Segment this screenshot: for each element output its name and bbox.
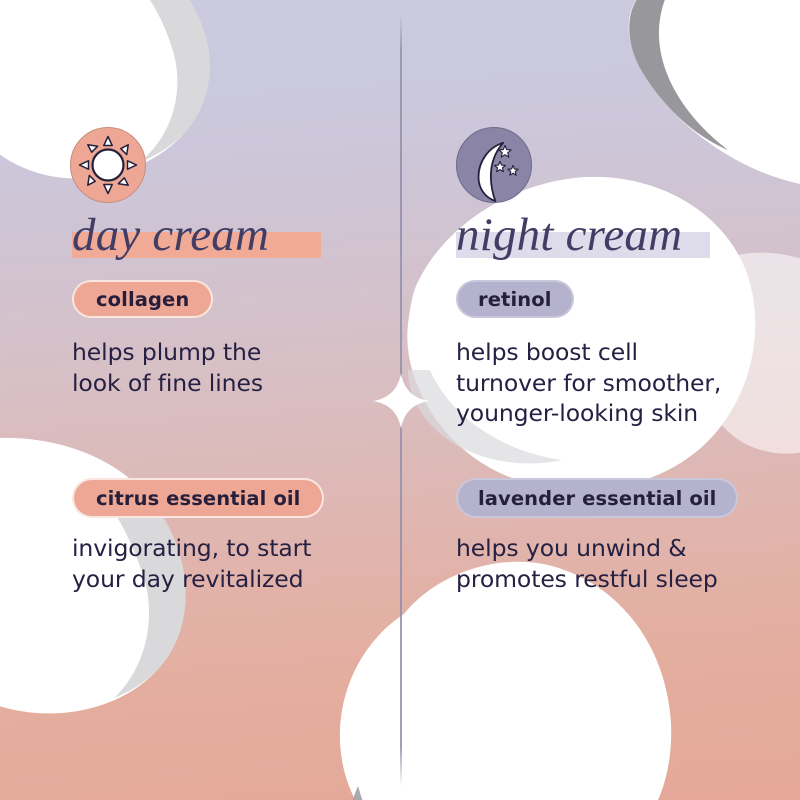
ingredient-pill-retinol[interactable]: retinol: [456, 280, 574, 318]
pill-label: collagen: [96, 288, 189, 311]
column-night-cream: night cream retinol helps boost cell tur…: [400, 0, 800, 800]
day-cream-title: day cream: [72, 211, 269, 261]
retinol-benefit-text: helps boost cell turnover for smoother, …: [456, 337, 721, 429]
skincare-comparison-poster: day cream collagen helps plump the look …: [0, 0, 800, 800]
ingredient-pill-citrus-oil[interactable]: citrus essential oil: [72, 478, 324, 518]
pill-label: retinol: [478, 288, 552, 311]
night-heading-wrapper: night cream: [456, 211, 682, 261]
sun-icon: [70, 127, 146, 203]
collagen-benefit-text: helps plump the look of fine lines: [72, 337, 263, 398]
night-cream-title: night cream: [456, 211, 682, 261]
column-day-cream: day cream collagen helps plump the look …: [0, 0, 400, 800]
moon-icon: [456, 127, 532, 203]
day-heading-wrapper: day cream: [72, 211, 269, 261]
ingredient-pill-lavender-oil[interactable]: lavender essential oil: [456, 478, 738, 518]
pill-label: citrus essential oil: [96, 487, 300, 510]
citrus-oil-benefit-text: invigorating, to start your day revitali…: [72, 533, 311, 594]
pill-label: lavender essential oil: [478, 487, 716, 510]
ingredient-pill-collagen[interactable]: collagen: [72, 280, 213, 318]
lavender-oil-benefit-text: helps you unwind & promotes restful slee…: [456, 533, 718, 594]
